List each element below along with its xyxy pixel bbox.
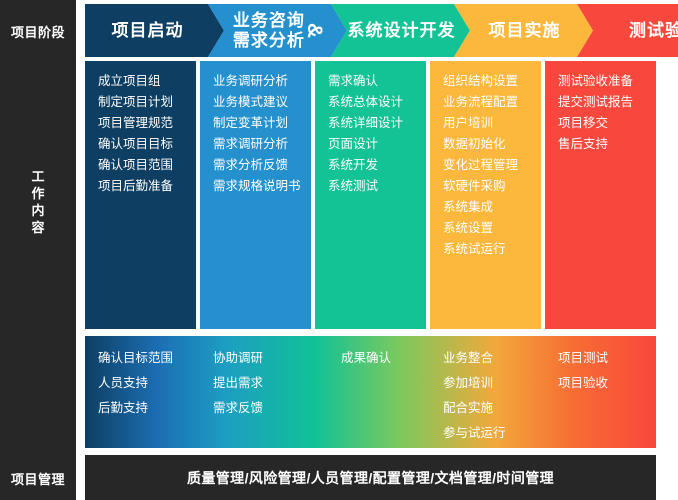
work-column-2: 业务调研分析业务模式建议制定变革计划需求调研分析需求分析反馈需求规格说明书 [200,61,311,329]
task-item: 页面设计 [328,134,426,155]
task-item: 软硬件采购 [443,176,541,197]
work-content-row: 成立项目组制定项目计划项目管理规范确认项目目标确认项目范围项目后勤准备 业务调研… [85,61,656,329]
task-item: 制定项目计划 [98,92,196,113]
phase-header-3[interactable]: 系统设计开发 [331,4,470,57]
task-item: 业务整合 [443,346,541,371]
sidebar-work-char-3: 容 [0,219,76,236]
sidebar-label-management: 项目管理 [0,469,76,488]
phase-header-3-label: 系统设计开发 [348,21,456,41]
phase-header-2-line1: 业务咨询 [233,11,305,31]
task-item: 组织结构设置 [443,71,541,92]
task-item: 参与试运行 [443,421,541,446]
task-item: 系统开发 [328,155,426,176]
task-item: 测试验收准备 [558,71,656,92]
phase-header-row: 项目启动 业务咨询 需求分析 & 系统设计开发 项目实施 测试验收 [85,4,658,57]
sidebar-label-phase: 项目阶段 [0,22,76,41]
task-item: 项目验收 [558,371,656,396]
phase-header-2-label: 业务咨询 需求分析 [233,11,305,51]
task-item: 业务流程配置 [443,92,541,113]
work-column-1: 成立项目组制定项目计划项目管理规范确认项目目标确认项目范围项目后勤准备 [85,61,196,329]
customer-column-4: 业务整合参加培训配合实施参与试运行 [430,346,541,446]
customer-column-1: 确认目标范围人员支持后勤支持 [85,346,196,421]
phase-header-1-label: 项目启动 [112,21,184,41]
task-item: 系统总体设计 [328,92,426,113]
phase-header-4-label: 项目实施 [489,21,561,41]
sidebar-work-char-1: 作 [0,185,76,202]
work-column-4: 组织结构设置业务流程配置用户培训数据初始化变化过程管理软硬件采购系统集成系统设置… [430,61,541,329]
task-item: 制定变革计划 [213,113,311,134]
task-item: 确认目标范围 [98,346,196,371]
sidebar-label-work: 工 作 内 容 [0,168,76,236]
task-item: 成立项目组 [98,71,196,92]
phase-header-5-label: 测试验收 [629,21,678,41]
task-item: 参加培训 [443,371,541,396]
task-item: 成果确认 [341,346,426,371]
task-item: 变化过程管理 [443,155,541,176]
phase-header-2-line2: 需求分析 [233,31,305,51]
task-item: 项目测试 [558,346,656,371]
work-column-3: 需求确认系统总体设计系统详细设计页面设计系统开发系统测试 [315,61,426,329]
task-item: 系统集成 [443,197,541,218]
ampersand-icon: & [302,22,326,38]
task-item: 系统详细设计 [328,113,426,134]
task-item: 数据初始化 [443,134,541,155]
task-item: 系统试运行 [443,239,541,260]
phase-header-1[interactable]: 项目启动 [85,4,224,57]
task-item: 确认项目目标 [98,134,196,155]
sidebar-work-char-0: 工 [0,168,76,185]
task-item: 业务模式建议 [213,92,311,113]
task-item: 项目移交 [558,113,656,134]
task-item: 提交测试报告 [558,92,656,113]
task-item: 配合实施 [443,396,541,421]
task-item: 后勤支持 [98,396,196,421]
task-item: 需求调研分析 [213,134,311,155]
customer-tasks-strip: 确认目标范围人员支持后勤支持 协助调研提出需求需求反馈 成果确认 业务整合参加培… [85,336,656,448]
task-item: 确认项目范围 [98,155,196,176]
task-item: 需求分析反馈 [213,155,311,176]
customer-column-3: 成果确认 [315,346,426,371]
task-item: 系统设置 [443,218,541,239]
task-item: 人员支持 [98,371,196,396]
task-item: 需求确认 [328,71,426,92]
task-item: 项目管理规范 [98,113,196,134]
customer-column-5: 项目测试项目验收 [545,346,656,396]
project-management-footer-text: 质量管理/风险管理/人员管理/配置管理/文档管理/时间管理 [187,468,554,488]
sidebar-work-char-2: 内 [0,202,76,219]
project-phase-diagram: 项目阶段 工 作 内 容 项目管理 项目启动 业务咨询 需求分析 & 系统设计开… [0,0,678,500]
customer-column-2: 协助调研提出需求需求反馈 [200,346,311,421]
task-item: 业务调研分析 [213,71,311,92]
task-item: 系统测试 [328,176,426,197]
task-item: 协助调研 [213,346,311,371]
phase-header-4[interactable]: 项目实施 [454,4,593,57]
task-item: 项目后勤准备 [98,176,196,197]
task-item: 需求规格说明书 [213,176,311,197]
sidebar: 项目阶段 工 作 内 容 项目管理 [0,0,76,500]
task-item: 提出需求 [213,371,311,396]
task-item: 需求反馈 [213,396,311,421]
work-column-5: 测试验收准备提交测试报告项目移交售后支持 [545,61,656,329]
phase-header-2[interactable]: 业务咨询 需求分析 & [208,4,347,57]
task-item: 用户培训 [443,113,541,134]
project-management-footer: 质量管理/风险管理/人员管理/配置管理/文档管理/时间管理 [85,455,656,500]
task-item: 售后支持 [558,134,656,155]
